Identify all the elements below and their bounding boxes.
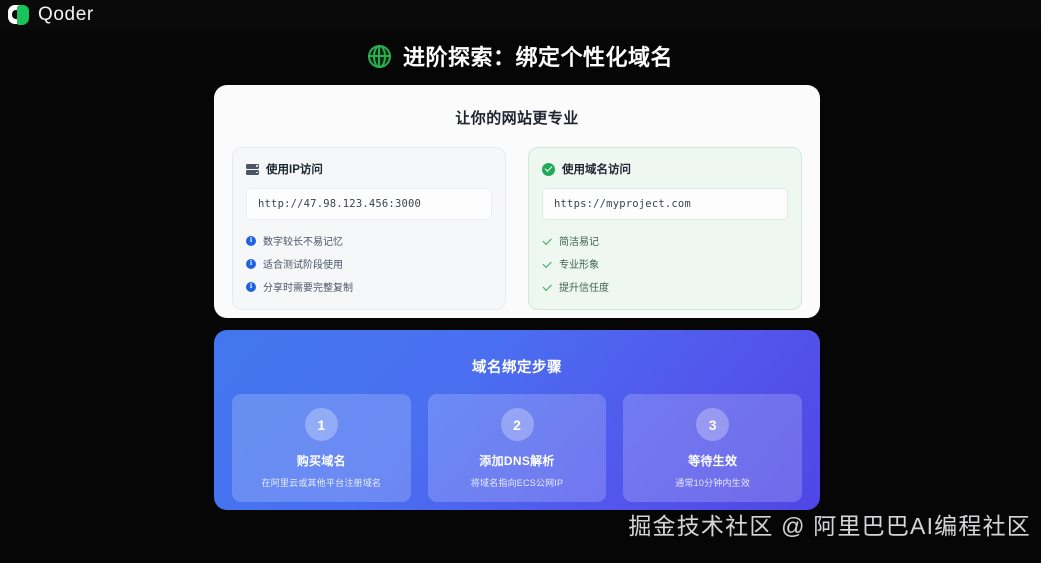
info-circle-icon (246, 259, 256, 269)
list-item-label: 专业形象 (559, 256, 599, 271)
comparison-panels: 使用IP访问 http://47.98.123.456:3000 数字较长不易记… (214, 128, 820, 310)
step-number-badge: 1 (305, 408, 338, 441)
ip-access-panel: 使用IP访问 http://47.98.123.456:3000 数字较长不易记… (232, 147, 506, 310)
slide-canvas: Qoder 进阶探索：绑定个性化域名 让你的网站更专业 使用IP访问 http:… (0, 0, 1041, 563)
list-item: 适合测试阶段使用 (246, 256, 492, 271)
step-card: 3 等待生效 通常10分钟内生效 (623, 394, 802, 502)
domain-panel-heading-text: 使用域名访问 (562, 161, 631, 177)
step-title: 添加DNS解析 (479, 452, 554, 469)
ip-panel-heading: 使用IP访问 (246, 161, 492, 177)
list-item-label: 数字较长不易记忆 (263, 233, 343, 248)
globe-icon (368, 45, 391, 68)
steps-card: 域名绑定步骤 1 购买域名 在阿里云或其他平台注册域名 2 添加DNS解析 将域… (214, 330, 820, 510)
qoder-logo-icon (8, 4, 30, 26)
step-description: 在阿里云或其他平台注册域名 (262, 476, 382, 489)
comparison-card: 让你的网站更专业 使用IP访问 http://47.98.123.456:300… (214, 85, 820, 318)
ip-bullet-list: 数字较长不易记忆 适合测试阶段使用 分享时需要完整复制 (246, 233, 492, 294)
step-description: 通常10分钟内生效 (675, 476, 750, 489)
check-icon (542, 236, 552, 246)
domain-bullet-list: 简洁易记 专业形象 提升信任度 (542, 233, 788, 294)
step-title: 购买域名 (297, 452, 346, 469)
steps-list: 1 购买域名 在阿里云或其他平台注册域名 2 添加DNS解析 将域名指向ECS公… (214, 377, 820, 502)
comparison-card-title: 让你的网站更专业 (214, 85, 820, 128)
page-title: 进阶探索：绑定个性化域名 (0, 40, 1041, 72)
step-card: 1 购买域名 在阿里云或其他平台注册域名 (232, 394, 411, 502)
domain-access-panel: 使用域名访问 https://myproject.com 简洁易记 专业形象 提… (528, 147, 802, 310)
step-title: 等待生效 (688, 452, 737, 469)
list-item: 专业形象 (542, 256, 788, 271)
step-number-badge: 3 (696, 408, 729, 441)
list-item: 简洁易记 (542, 233, 788, 248)
list-item-label: 适合测试阶段使用 (263, 256, 343, 271)
list-item: 分享时需要完整复制 (246, 279, 492, 294)
step-number-badge: 2 (501, 408, 534, 441)
watermark: 掘金技术社区 @ 阿里巴巴AI编程社区 (628, 507, 1031, 541)
brand-bar: Qoder (0, 0, 1041, 30)
list-item: 提升信任度 (542, 279, 788, 294)
brand-name: Qoder (38, 4, 94, 26)
check-icon (542, 259, 552, 269)
list-item-label: 分享时需要完整复制 (263, 279, 353, 294)
domain-url-field[interactable]: https://myproject.com (542, 188, 788, 220)
list-item-label: 简洁易记 (559, 233, 599, 248)
info-circle-icon (246, 282, 256, 292)
ip-panel-heading-text: 使用IP访问 (266, 161, 323, 177)
check-icon (542, 282, 552, 292)
domain-panel-heading: 使用域名访问 (542, 161, 788, 177)
server-icon (246, 163, 259, 176)
step-card: 2 添加DNS解析 将域名指向ECS公网IP (428, 394, 607, 502)
list-item: 数字较长不易记忆 (246, 233, 492, 248)
step-description: 将域名指向ECS公网IP (471, 476, 563, 489)
page-title-text: 进阶探索：绑定个性化域名 (403, 40, 673, 72)
info-circle-icon (246, 236, 256, 246)
check-circle-icon (542, 163, 555, 176)
steps-card-title: 域名绑定步骤 (214, 330, 820, 377)
ip-url-field[interactable]: http://47.98.123.456:3000 (246, 188, 492, 220)
list-item-label: 提升信任度 (559, 279, 609, 294)
